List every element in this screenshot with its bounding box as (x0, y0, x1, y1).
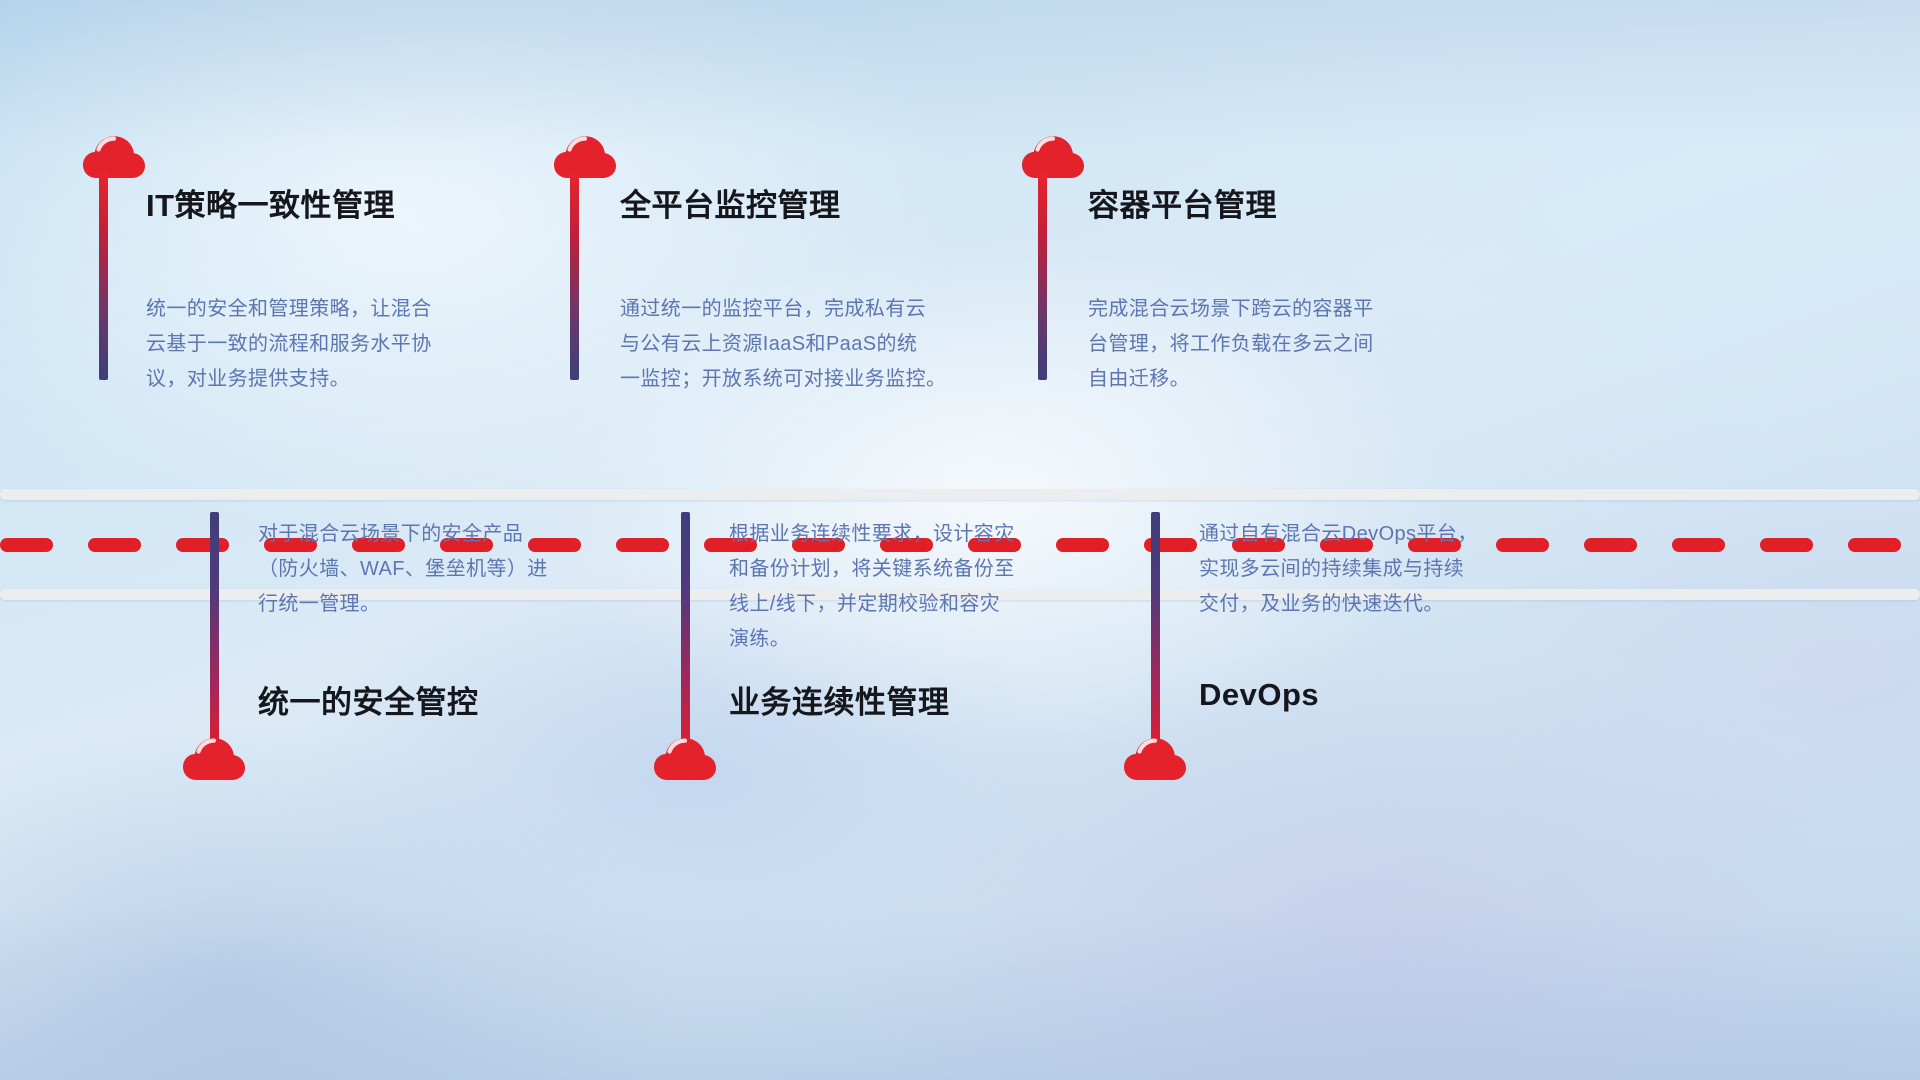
connector-stem (99, 172, 108, 380)
card-body-text: 统一的安全和管理策略，让混合 云基于一致的流程和服务水平协 议，对业务提供支持。 (146, 292, 502, 397)
road-dash (1760, 538, 1813, 552)
card-body-text: 通过统一的监控平台，完成私有云 与公有云上资源IaaS和PaaS的统 一监控；开… (620, 292, 1000, 397)
card-body-text: 通过自有混合云DevOps平台， 实现多云间的持续集成与持续 交付，及业务的快速… (1199, 517, 1555, 622)
connector-stem (1038, 172, 1047, 380)
road-dash (0, 538, 53, 552)
cloud-icon (183, 735, 245, 781)
road-line-top (0, 489, 1920, 500)
road-dash (616, 538, 669, 552)
cloud-icon (654, 735, 716, 781)
card-heading: 容器平台管理 (1088, 180, 1277, 225)
connector-stem (570, 172, 579, 380)
road-dash (1672, 538, 1725, 552)
card-heading: 业务连续性管理 (729, 677, 950, 722)
road-dash (176, 538, 229, 552)
connector-stem (681, 512, 690, 743)
card-body-text: 完成混合云场景下跨云的容器平 台管理，将工作负载在多云之间 自由迁移。 (1088, 292, 1444, 397)
cloud-icon (554, 133, 616, 179)
card-heading: 统一的安全管控 (258, 677, 479, 722)
road-dash (88, 538, 141, 552)
card-heading: DevOps (1199, 677, 1319, 713)
cloud-icon (1124, 735, 1186, 781)
card-body-text: 根据业务连续性要求，设计容灾 和备份计划，将关键系统备份至 线上/线下，并定期校… (729, 517, 1085, 657)
road-dash (1584, 538, 1637, 552)
cloud-icon (1022, 133, 1084, 179)
road-dash (1848, 538, 1901, 552)
card-body-text: 对于混合云场景下的安全产品 （防火墙、WAF、堡垒机等）进 行统一管理。 (258, 517, 614, 622)
card-heading: 全平台监控管理 (620, 180, 841, 225)
connector-stem (210, 512, 219, 743)
card-heading: IT策略一致性管理 (146, 180, 395, 225)
connector-stem (1151, 512, 1160, 743)
cloud-icon (83, 133, 145, 179)
